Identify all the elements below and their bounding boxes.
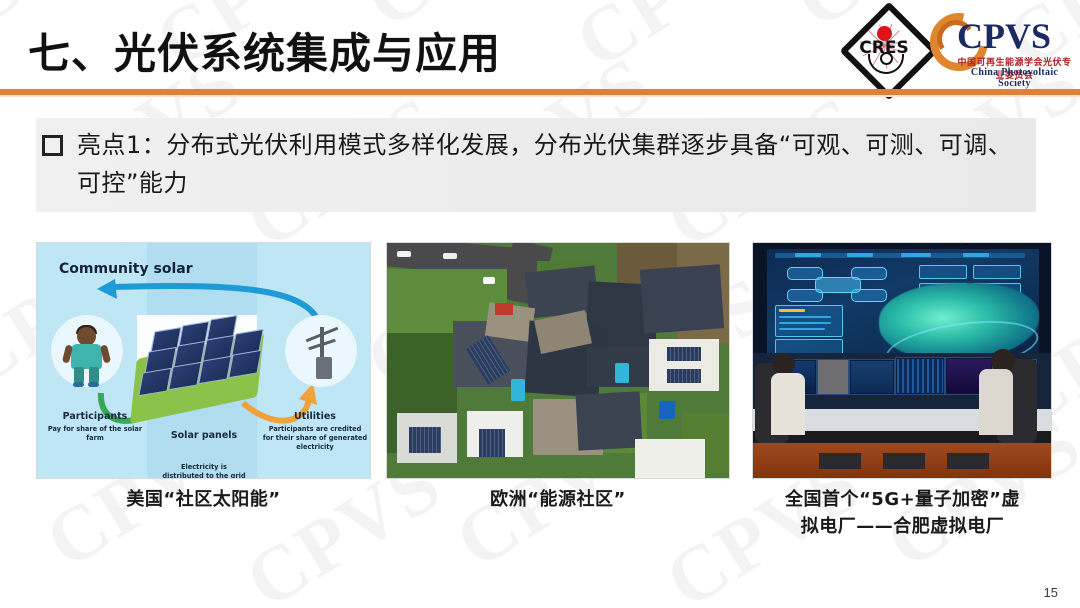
cpvs-logo: CPVS 中国可再生能源学会光伏专业委员会 China Photovoltaic… (930, 9, 1072, 83)
figure-energy-community (386, 242, 730, 479)
videowall-tab (847, 253, 873, 257)
caption-energy-community: 欧洲“能源社区” (386, 486, 730, 513)
red-vehicle (495, 303, 513, 315)
videowall-row (779, 316, 831, 318)
swimming-pool (659, 401, 675, 419)
videowall-tab (795, 253, 821, 257)
operator-monitor (895, 357, 945, 395)
cpvs-acronym: CPVS (957, 15, 1051, 57)
videowall-tab (901, 253, 931, 257)
rooftop-solar-array (479, 429, 505, 457)
cres-logo: CRES (846, 8, 922, 84)
house-roof-white (635, 439, 705, 479)
caption-virtual-power-plant: 全国首个“5G+量子加密”虚 拟电厂——合肥虚拟电厂 (750, 486, 1055, 540)
control-room-photo (752, 242, 1052, 479)
header-divider (0, 89, 1080, 95)
highlight-bullet-block: 亮点1：分布式光伏利用模式多样化发展，分布光伏集群逐步具备“可观、可测、可调、可… (36, 118, 1036, 212)
videowall-metric (973, 265, 1021, 279)
car (443, 253, 457, 259)
car (483, 277, 495, 284)
infographic-node-solar-panels: Solar panels Electricity is distributed … (149, 411, 259, 479)
house-roof (576, 391, 643, 450)
operator-monitor (849, 359, 895, 395)
bullet-text: 亮点1：分布式光伏利用模式多样化发展，分布光伏集群逐步具备“可观、可测、可调、可… (77, 126, 1017, 202)
community-solar-infographic: Community solar (36, 242, 371, 479)
infographic-node-utilities: Utilities Participants are credited for … (261, 411, 369, 452)
figure-community-solar: Community solar (36, 242, 371, 479)
operator-monitor (817, 359, 849, 395)
utility-transformer (316, 357, 332, 379)
rooftop-solar-array (409, 427, 441, 453)
desk-vent (947, 453, 989, 469)
header-divider-shadow (0, 95, 1080, 97)
square-bullet-icon (42, 135, 63, 156)
operator-body-left (771, 373, 805, 435)
logo-area: CRES CPVS 中国可再生能源学会光伏专业委员会 China Photovo… (846, 4, 1072, 88)
monitor-screen (897, 359, 943, 393)
videowall-center-node (815, 277, 861, 293)
slide-header: 七、光伏系统集成与应用 CRES CPVS (0, 0, 1080, 96)
swimming-pool (511, 379, 525, 401)
videowall-tab (963, 253, 989, 257)
house-roof (640, 264, 724, 333)
cres-center-dot-icon (880, 52, 893, 65)
operator-head-left (773, 353, 795, 375)
rooftop-solar-array (667, 369, 701, 383)
videowall-row-highlight (779, 309, 805, 312)
participant-body (71, 344, 102, 369)
monitor-screen (851, 361, 893, 393)
videowall-metric (919, 265, 967, 279)
swimming-pool (615, 363, 629, 383)
participant-shoe-left (73, 382, 84, 387)
videowall-row (779, 328, 825, 330)
videowall-row (779, 322, 831, 324)
cpvs-english-subtitle: China Photovoltaic Society (957, 67, 1072, 89)
figure-virtual-power-plant (752, 242, 1052, 479)
video-wall (767, 249, 1039, 361)
figure-row: Community solar (0, 242, 1080, 482)
rooftop-solar-array (667, 347, 701, 361)
aerial-neighbourhood-photo (386, 242, 730, 479)
participant-leg-right (89, 367, 99, 383)
operator-body-right (979, 369, 1013, 435)
caption-community-solar: 美国“社区太阳能” (36, 486, 371, 513)
participant-shoe-right (88, 382, 99, 387)
page-number: 15 (1044, 585, 1058, 600)
desk-vent (883, 453, 925, 469)
participant-leg-left (74, 367, 84, 383)
car (397, 251, 411, 257)
desk-vent (819, 453, 861, 469)
page-title: 七、光伏系统集成与应用 (28, 20, 501, 81)
infographic-node-participants: Participants Pay for share of the solar … (41, 411, 149, 443)
